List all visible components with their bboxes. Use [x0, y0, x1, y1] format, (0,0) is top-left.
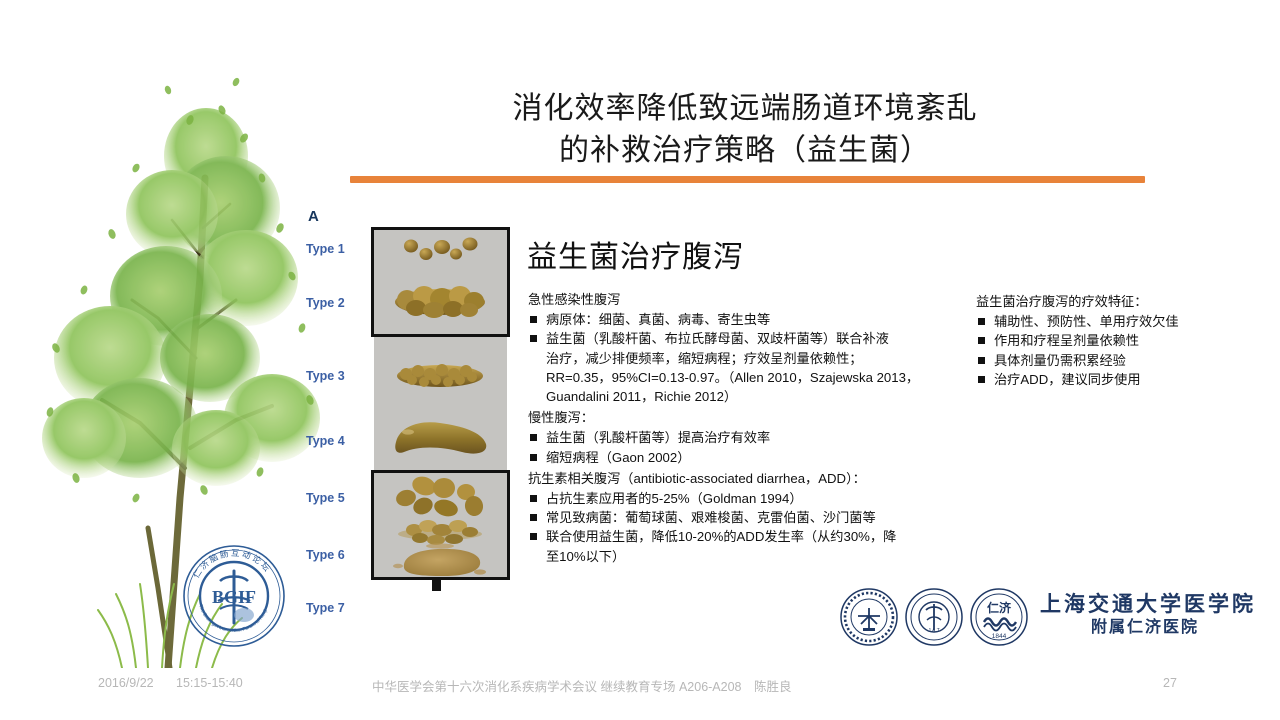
bullet-list-acute: 病原体：细菌、真菌、病毒、寄生虫等 益生菌（乳酸杆菌、布拉氏酵母菌、双歧杆菌等）…	[528, 310, 960, 406]
bullet-list-efficacy: 辅助性、预防性、单用疗效欠佳 作用和疗程呈剂量依赖性 具体剂量仍需积累经验 治疗…	[976, 312, 1256, 389]
title-line-2: 的补救治疗策略（益生菌）	[330, 130, 1160, 172]
bristol-label-type-7: Type 7	[306, 601, 374, 615]
bristol-highlight-box-constipation	[371, 227, 510, 337]
stool-type-3-graphic	[397, 364, 483, 387]
title-line-1: 消化效率降低致远端肠道环境紊乱	[330, 88, 1160, 130]
list-item: 具体剂量仍需积累经验	[976, 351, 1256, 370]
university-seal-group: J.A.T 仁济 1844	[838, 586, 1030, 648]
bullet-line: 益生菌（乳酸杆菌等）提高治疗有效率	[546, 428, 960, 447]
left-content-column: 急性感染性腹泻 病原体：细菌、真菌、病毒、寄生虫等 益生菌（乳酸杆菌、布拉氏酵母…	[528, 290, 960, 568]
bristol-label-type-5: Type 5	[306, 491, 374, 505]
bullet-square-icon	[978, 357, 985, 364]
bristol-highlight-box-diarrhea	[371, 470, 510, 580]
section-heading-efficacy: 益生菌治疗腹泻的疗效特征：	[976, 292, 1256, 311]
bullet-list-chronic: 益生菌（乳酸杆菌等）提高治疗有效率 缩短病程（Gaon 2002）	[528, 428, 960, 466]
right-content-column: 益生菌治疗腹泻的疗效特征： 辅助性、预防性、单用疗效欠佳 作用和疗程呈剂量依赖性…	[976, 292, 1256, 391]
svg-text:1844: 1844	[992, 633, 1007, 640]
bullet-square-icon	[530, 454, 537, 461]
bullet-line: 常见致病菌：葡萄球菌、艰难梭菌、克雷伯菌、沙门菌等	[546, 508, 960, 527]
bullet-line: 联合使用益生菌，降低10-20%的ADD发生率（从约30%，降	[546, 527, 960, 546]
bullet-line: 益生菌（乳酸杆菌、布拉氏酵母菌、双歧杆菌等）联合补液	[546, 329, 960, 348]
list-item: 治疗ADD，建议同步使用	[976, 370, 1256, 389]
bullet-line: 治疗，减少排便频率，缩短病程；疗效呈剂量依赖性；	[546, 349, 960, 368]
sjtu-seal-icon	[841, 589, 897, 645]
bullet-line: 具体剂量仍需积累经验	[994, 351, 1256, 370]
hospital-name-main: 上海交通大学医学院	[1040, 590, 1250, 617]
bullet-line: Guandalini 2011，Richie 2012）	[546, 387, 960, 406]
slide-title: 消化效率降低致远端肠道环境紊乱 的补救治疗策略（益生菌）	[330, 88, 1160, 172]
bullet-line: 占抗生素应用者的5-25%（Goldman 1994）	[546, 489, 960, 508]
list-item: 占抗生素应用者的5-25%（Goldman 1994）	[528, 489, 960, 508]
list-item: 作用和疗程呈剂量依赖性	[976, 331, 1256, 350]
stool-type-4-graphic	[395, 422, 486, 453]
slide-footer: 2016/9/22 15:15-15:40 中华医学会第十六次消化系疾病学术会议…	[0, 676, 1280, 700]
list-item: 常见致病菌：葡萄球菌、艰难梭菌、克雷伯菌、沙门菌等	[528, 508, 960, 527]
bristol-label-type-3: Type 3	[306, 369, 374, 383]
section-heading-add: 抗生素相关腹泻（antibiotic-associated diarrhea，A…	[528, 469, 960, 488]
hospital-name-sub: 附属仁济医院	[1040, 617, 1250, 639]
bgif-forum-logo: BGIF 仁济脑肠互动论坛 The Brain-gut Interaction …	[176, 541, 292, 651]
list-item: 益生菌（乳酸杆菌、布拉氏酵母菌、双歧杆菌等）联合补液 治疗，减少排便频率，缩短病…	[528, 329, 960, 406]
bristol-label-type-4: Type 4	[306, 434, 374, 448]
list-item: 联合使用益生菌，降低10-20%的ADD发生率（从约30%，降 至10%以下）	[528, 527, 960, 565]
bullet-square-icon	[530, 533, 537, 540]
title-divider-rule	[350, 176, 1145, 183]
bristol-label-type-2: Type 2	[306, 296, 374, 310]
bullet-square-icon	[530, 335, 537, 342]
svg-text:BGIF: BGIF	[212, 587, 256, 607]
bullet-list-add: 占抗生素应用者的5-25%（Goldman 1994） 常见致病菌：葡萄球菌、艰…	[528, 489, 960, 566]
content-heading: 益生菌治疗腹泻	[527, 232, 744, 276]
footer-page-number: 27	[1163, 676, 1177, 690]
bullet-line: 作用和疗程呈剂量依赖性	[994, 331, 1256, 350]
renji-hospital-seal-icon: 仁济 1844	[971, 589, 1027, 645]
section-heading-acute: 急性感染性腹泻	[528, 290, 960, 309]
bullet-square-icon	[530, 316, 537, 323]
bullet-square-icon	[530, 514, 537, 521]
bristol-label-type-1: Type 1	[306, 242, 374, 256]
bullet-square-icon	[978, 318, 985, 325]
bullet-square-icon	[530, 495, 537, 502]
hospital-wordmark: 上海交通大学医学院 附属仁济医院	[1040, 590, 1250, 639]
panel-letter-label: A	[308, 208, 319, 225]
bullet-line: 治疗ADD，建议同步使用	[994, 370, 1256, 389]
bullet-square-icon	[530, 434, 537, 441]
bullet-line: 辅助性、预防性、单用疗效欠佳	[994, 312, 1256, 331]
bullet-square-icon	[978, 337, 985, 344]
list-item: 辅助性、预防性、单用疗效欠佳	[976, 312, 1256, 331]
medical-school-seal-icon: J.A.T	[906, 589, 962, 645]
bullet-line: RR=0.35，95%CI=0.13-0.97。（Allen 2010，Szaj…	[546, 368, 960, 387]
bullet-line: 病原体：细菌、真菌、病毒、寄生虫等	[546, 310, 960, 329]
bristol-label-type-6: Type 6	[306, 548, 374, 562]
svg-text:J.A.T: J.A.T	[928, 628, 940, 634]
footer-date: 2016/9/22	[98, 676, 154, 690]
bullet-line: 至10%以下）	[546, 547, 960, 566]
list-item: 病原体：细菌、真菌、病毒、寄生虫等	[528, 310, 960, 329]
bullet-line: 缩短病程（Gaon 2002）	[546, 448, 960, 467]
section-heading-chronic: 慢性腹泻：	[528, 408, 960, 427]
footer-conference-info: 中华医学会第十六次消化系疾病学术会议 继续教育专场 A206-A208 陈胜良	[372, 676, 792, 695]
bullet-square-icon	[978, 376, 985, 383]
bristol-type-labels: Type 1 Type 2 Type 3 Type 4 Type 5 Type …	[306, 230, 374, 578]
bristol-stool-chart: A	[306, 208, 511, 580]
svg-text:仁济: 仁济	[987, 600, 1012, 615]
list-item: 缩短病程（Gaon 2002）	[528, 448, 960, 467]
bristol-box-stem	[432, 578, 441, 591]
footer-time: 15:15-15:40	[176, 676, 243, 690]
list-item: 益生菌（乳酸杆菌等）提高治疗有效率	[528, 428, 960, 447]
